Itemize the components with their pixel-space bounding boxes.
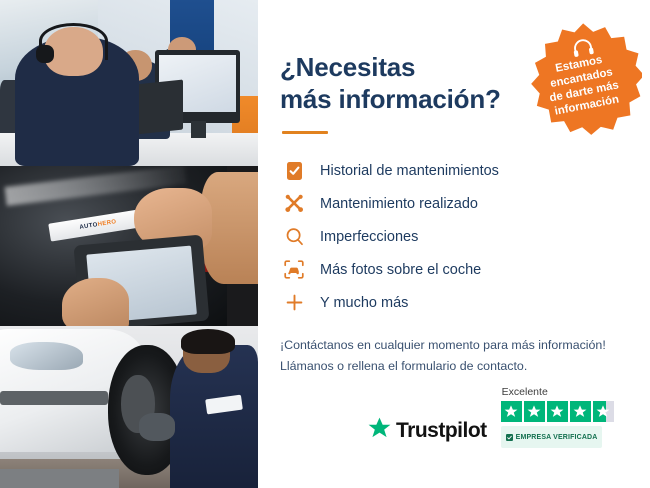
car-headlight (10, 342, 82, 370)
inspector-hand-lower (62, 278, 129, 326)
car-viewfinder-icon (280, 258, 308, 282)
mechanic-hair (181, 329, 235, 353)
car-grille (0, 391, 108, 406)
star-rating (501, 401, 614, 422)
document-check-icon (280, 159, 308, 183)
autohero-ruler-brand: AUTOHERO (79, 218, 117, 230)
info-badge: Estamos encantados de darte más informac… (524, 20, 642, 138)
contact-text: ¡Contáctanos en cualquier momento para m… (280, 335, 650, 376)
content-panel: ¿Necesitas más información? Historial de… (258, 0, 650, 488)
feature-item-historial: Historial de mantenimientos (280, 154, 650, 187)
feature-label: Mantenimiento realizado (320, 196, 478, 212)
rating-label: Excelente (502, 386, 548, 398)
rating-star-2 (524, 401, 545, 422)
magnifier-icon (280, 225, 308, 249)
trustpilot-rating: Excelente (501, 386, 614, 448)
verified-business-label: EMPRESA VERIFICADA (516, 434, 598, 441)
headset-earcup (36, 45, 54, 63)
feature-item-mucho-mas: Y mucho más (280, 286, 650, 319)
verified-business-badge: EMPRESA VERIFICADA (501, 426, 603, 448)
photo-column: AUTOHERO (0, 0, 258, 488)
feature-item-imperfecciones: Imperfecciones (280, 220, 650, 253)
car-inspection-ruler-photo: AUTOHERO (0, 166, 258, 326)
feature-item-mantenimiento: Mantenimiento realizado (280, 187, 650, 220)
trustpilot-widget[interactable]: Trustpilot Excelente (368, 386, 614, 448)
title-divider (282, 131, 328, 134)
feature-label: Historial de mantenimientos (320, 163, 499, 179)
mechanic-wheel-photo (0, 326, 258, 488)
information-banner: AUTOHERO ¿Necesitas más información? (0, 0, 650, 488)
rating-star-3 (547, 401, 568, 422)
rating-star-5-partial (593, 401, 614, 422)
plus-icon (280, 291, 308, 315)
monitor-stand (191, 121, 206, 138)
feature-label: Más fotos sobre el coche (320, 262, 481, 278)
trustpilot-wordmark: Trustpilot (396, 419, 487, 443)
trustpilot-star-icon (368, 417, 391, 444)
rating-star-1 (501, 401, 522, 422)
rating-star-4 (570, 401, 591, 422)
car-lift-ramp (0, 469, 119, 488)
tools-cross-icon (280, 192, 308, 216)
call-center-agents-photo (0, 0, 258, 166)
feature-label: Y mucho más (320, 295, 408, 311)
feature-label: Imperfecciones (320, 229, 418, 245)
feature-list: Historial de mantenimientos M (280, 154, 650, 319)
mechanic-glove (139, 413, 175, 441)
trustpilot-brand: Trustpilot (368, 417, 487, 448)
feature-item-fotos: Más fotos sobre el coche (280, 253, 650, 286)
verified-check-icon (506, 428, 513, 446)
